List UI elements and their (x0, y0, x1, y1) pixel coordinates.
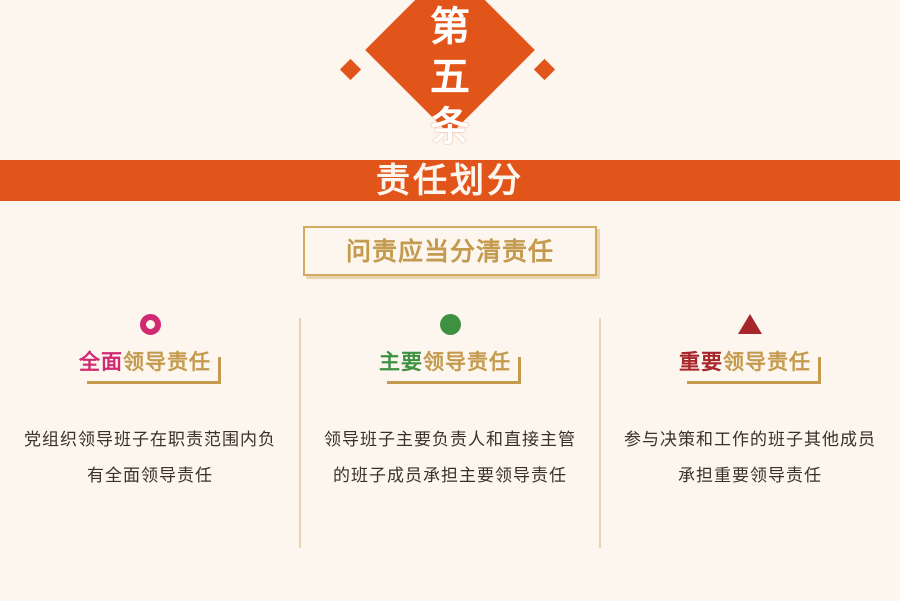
icon-slot-3 (738, 305, 762, 343)
subtitle-text: 问责应当分清责任 (346, 239, 554, 264)
emblem-char-1: 第 (430, 2, 470, 52)
emblem-char-3: 条 (430, 102, 470, 152)
heading-wrap-3: 重要领导责任 (679, 349, 821, 384)
subtitle-box: 问责应当分清责任 (303, 226, 597, 276)
heading-wrap-2: 主要领导责任 (379, 349, 521, 384)
column-body-3: 参与决策和工作的班子其他成员承担重要领导责任 (624, 422, 876, 494)
heading-bracket-vertical-2 (518, 357, 521, 383)
column-heading-2: 主要领导责任 (379, 349, 511, 375)
heading-bracket-vertical-3 (818, 357, 821, 383)
emblem-article-label: 第 五 条 (420, 2, 480, 152)
emblem-area: 第 五 条 (0, 0, 900, 160)
heading-accent-2: 主要 (379, 349, 423, 374)
ring-icon (140, 314, 161, 335)
column-body-2: 领导班子主要负责人和直接主管的班子成员承担主要领导责任 (324, 422, 576, 494)
heading-bracket-underline-3 (687, 381, 821, 384)
heading-bracket-underline-2 (387, 381, 521, 384)
emblem-char-2: 五 (430, 52, 470, 102)
diamond-dot-right-icon (534, 59, 555, 80)
heading-rest-2: 领导责任 (423, 349, 511, 374)
heading-wrap-1: 全面领导责任 (79, 349, 221, 384)
column-overall-responsibility: 全面领导责任 党组织领导班子在职责范围内负有全面领导责任 (0, 305, 300, 545)
column-important-responsibility: 重要领导责任 参与决策和工作的班子其他成员承担重要领导责任 (600, 305, 900, 545)
heading-rest-1: 领导责任 (123, 349, 211, 374)
triangle-icon (738, 314, 762, 334)
column-heading-3: 重要领导责任 (679, 349, 811, 375)
column-primary-responsibility: 主要领导责任 领导班子主要负责人和直接主管的班子成员承担主要领导责任 (300, 305, 600, 545)
heading-accent-1: 全面 (79, 349, 123, 374)
column-body-1: 党组织领导班子在职责范围内负有全面领导责任 (24, 422, 276, 494)
icon-slot-1 (140, 305, 161, 343)
icon-slot-2 (440, 305, 461, 343)
section-banner: 责任划分 (0, 160, 900, 201)
diamond-dot-left-icon (340, 59, 361, 80)
banner-title: 责任划分 (376, 164, 524, 198)
heading-bracket-vertical-1 (218, 357, 221, 383)
heading-accent-3: 重要 (679, 349, 723, 374)
heading-bracket-underline-1 (87, 381, 221, 384)
column-heading-1: 全面领导责任 (79, 349, 211, 375)
heading-rest-3: 领导责任 (723, 349, 811, 374)
responsibility-columns: 全面领导责任 党组织领导班子在职责范围内负有全面领导责任 主要领导责任 领导班子… (0, 305, 900, 545)
circle-icon (440, 314, 461, 335)
